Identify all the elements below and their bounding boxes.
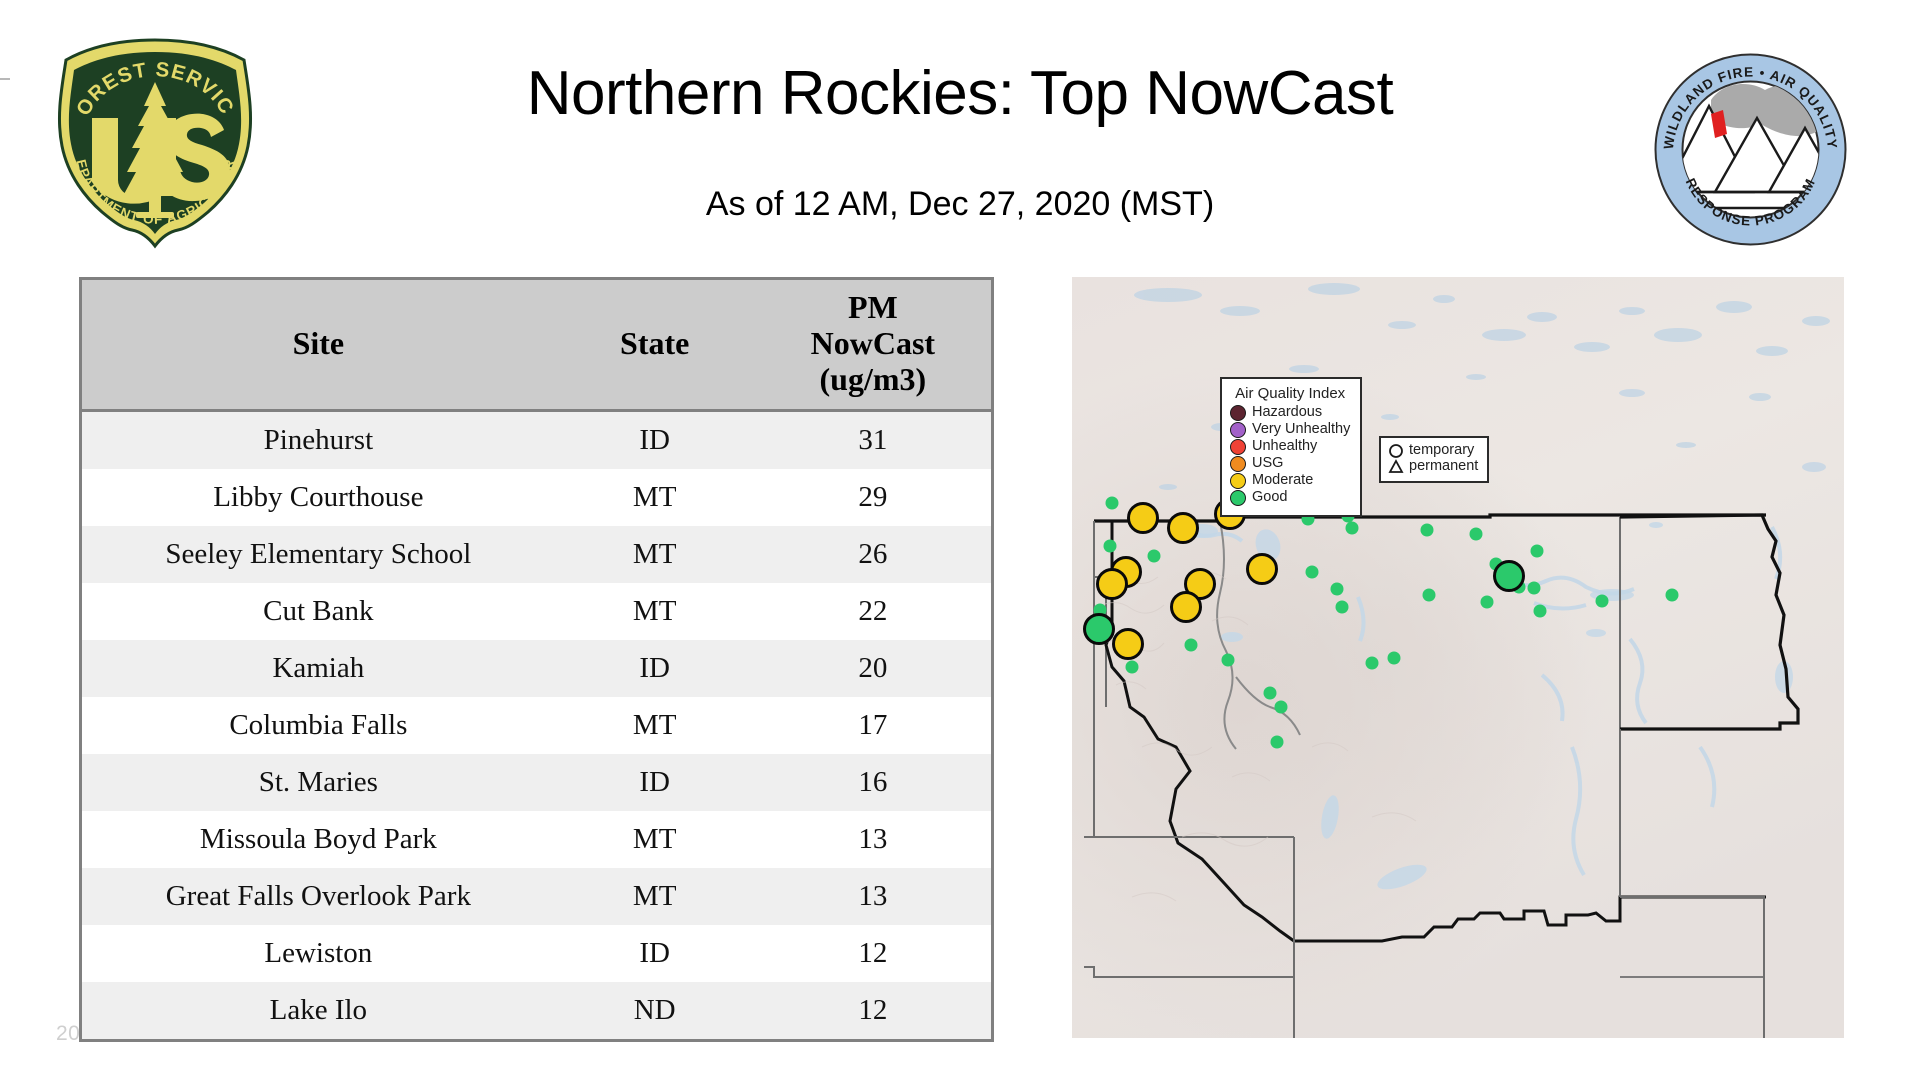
pm-cell: 13 — [755, 868, 991, 925]
temporary-monitor-circle-icon — [1388, 443, 1404, 459]
map-monitor-marker[interactable] — [1096, 568, 1128, 600]
aqi-legend-row: Good — [1230, 490, 1350, 506]
state-cell: MT — [555, 697, 755, 754]
table-body: PinehurstID31Libby CourthouseMT29Seeley … — [82, 411, 991, 1040]
column-header-state: State — [555, 280, 755, 411]
aqi-legend-row: Unhealthy — [1230, 439, 1350, 455]
pm-cell: 12 — [755, 925, 991, 982]
site-cell: Seeley Elementary School — [82, 526, 555, 583]
site-cell: Pinehurst — [82, 411, 555, 470]
site-cell: Libby Courthouse — [82, 469, 555, 526]
column-header-site: Site — [82, 280, 555, 411]
table-row: LewistonID12 — [82, 925, 991, 982]
monitor-permanent-row: permanent — [1388, 459, 1478, 475]
map-monitor-marker[interactable] — [1331, 583, 1344, 596]
aqi-swatch-icon — [1230, 405, 1246, 421]
map-monitor-marker[interactable] — [1531, 545, 1544, 558]
air-quality-map[interactable]: Air Quality Index HazardousVery Unhealth… — [1072, 277, 1844, 1038]
aqi-legend-label: Hazardous — [1252, 405, 1322, 420]
pm-cell: 17 — [755, 697, 991, 754]
pm-cell: 16 — [755, 754, 991, 811]
pm-cell: 13 — [755, 811, 991, 868]
map-monitor-marker[interactable] — [1534, 605, 1547, 618]
pm-cell: 29 — [755, 469, 991, 526]
state-cell: MT — [555, 526, 755, 583]
slide-root: 2020-12-27 0700 UTC FOREST SERVICE DEPAR… — [0, 0, 1920, 1080]
table-row: KamiahID20 — [82, 640, 991, 697]
site-cell: Lake Ilo — [82, 982, 555, 1039]
map-monitor-marker[interactable] — [1388, 652, 1401, 665]
table-row: Libby CourthouseMT29 — [82, 469, 991, 526]
aqi-legend-row: Moderate — [1230, 473, 1350, 489]
map-monitor-marker[interactable] — [1275, 701, 1288, 714]
aqi-swatch-icon — [1230, 473, 1246, 489]
map-monitor-marker[interactable] — [1493, 560, 1525, 592]
table-row: Columbia FallsMT17 — [82, 697, 991, 754]
map-monitor-marker[interactable] — [1167, 512, 1199, 544]
aqi-swatch-icon — [1230, 490, 1246, 506]
map-monitor-marker[interactable] — [1083, 613, 1115, 645]
table-row: Cut BankMT22 — [82, 583, 991, 640]
aqi-legend-row: Hazardous — [1230, 405, 1350, 421]
us-forest-service-logo: FOREST SERVICE DEPARTMENT OF AGRICULTURE — [48, 30, 263, 255]
map-monitor-marker[interactable] — [1112, 628, 1144, 660]
column-header-pm-nowcast: PM NowCast (ug/m3) — [755, 280, 991, 411]
map-monitor-marker[interactable] — [1271, 736, 1284, 749]
pm-cell: 20 — [755, 640, 991, 697]
aqi-legend-title: Air Quality Index — [1230, 385, 1350, 402]
aqi-legend-row: Very Unhealthy — [1230, 422, 1350, 438]
map-monitor-marker[interactable] — [1185, 639, 1198, 652]
pm-cell: 26 — [755, 526, 991, 583]
state-cell: MT — [555, 868, 755, 925]
nowcast-table: Site State PM NowCast (ug/m3) PinehurstI… — [82, 280, 991, 1039]
state-cell: ID — [555, 925, 755, 982]
pm-header-line-1: PM — [848, 289, 898, 325]
site-cell: Columbia Falls — [82, 697, 555, 754]
map-monitor-marker[interactable] — [1666, 589, 1679, 602]
map-monitor-marker[interactable] — [1222, 654, 1235, 667]
state-cell: MT — [555, 583, 755, 640]
pm-cell: 22 — [755, 583, 991, 640]
aqi-swatch-icon — [1230, 439, 1246, 455]
table-row: PinehurstID31 — [82, 411, 991, 470]
pm-header-line-3: (ug/m3) — [820, 361, 927, 397]
map-monitor-marker[interactable] — [1148, 550, 1161, 563]
aqi-swatch-icon — [1230, 422, 1246, 438]
map-terrain-canvas — [1072, 277, 1844, 1038]
aqi-legend-label: Good — [1252, 490, 1287, 505]
table-row: Seeley Elementary SchoolMT26 — [82, 526, 991, 583]
map-monitor-marker[interactable] — [1346, 522, 1359, 535]
aqi-swatch-icon — [1230, 456, 1246, 472]
permanent-monitor-triangle-icon — [1388, 459, 1404, 475]
page-subtitle: As of 12 AM, Dec 27, 2020 (MST) — [0, 185, 1920, 224]
map-monitor-marker[interactable] — [1170, 591, 1202, 623]
pm-cell: 31 — [755, 411, 991, 470]
aqi-legend-row: USG — [1230, 456, 1350, 472]
site-cell: Lewiston — [82, 925, 555, 982]
state-cell: ID — [555, 754, 755, 811]
site-cell: Missoula Boyd Park — [82, 811, 555, 868]
table-row: Great Falls Overlook ParkMT13 — [82, 868, 991, 925]
table-head: Site State PM NowCast (ug/m3) — [82, 280, 991, 411]
nowcast-table-container: Site State PM NowCast (ug/m3) PinehurstI… — [79, 277, 994, 1042]
wfaqrp-logo: WILDLAND FIRE • AIR QUALITY RESPONSE PRO… — [1653, 52, 1848, 247]
monitor-temporary-row: temporary — [1388, 443, 1478, 459]
pm-header-line-2: NowCast — [811, 325, 935, 361]
aqi-legend-label: Very Unhealthy — [1252, 422, 1350, 437]
map-monitor-marker[interactable] — [1336, 601, 1349, 614]
map-monitor-marker[interactable] — [1246, 553, 1278, 585]
monitor-temporary-label: temporary — [1409, 443, 1474, 458]
monitor-type-legend: temporary permanent — [1379, 436, 1489, 483]
map-monitor-marker[interactable] — [1104, 540, 1117, 553]
state-cell: MT — [555, 811, 755, 868]
table-row: St. MariesID16 — [82, 754, 991, 811]
map-monitor-marker[interactable] — [1421, 524, 1434, 537]
aqi-legend-label: USG — [1252, 456, 1283, 471]
site-cell: St. Maries — [82, 754, 555, 811]
map-monitor-marker[interactable] — [1127, 502, 1159, 534]
site-cell: Kamiah — [82, 640, 555, 697]
table-row: Missoula Boyd ParkMT13 — [82, 811, 991, 868]
pm-cell: 12 — [755, 982, 991, 1039]
aqi-legend-label: Unhealthy — [1252, 439, 1317, 454]
aqi-legend: Air Quality Index HazardousVery Unhealth… — [1220, 377, 1362, 517]
aqi-legend-label: Moderate — [1252, 473, 1313, 488]
monitor-permanent-label: permanent — [1409, 459, 1478, 474]
map-monitor-marker[interactable] — [1126, 661, 1139, 674]
state-cell: ID — [555, 411, 755, 470]
state-cell: ID — [555, 640, 755, 697]
state-cell: MT — [555, 469, 755, 526]
map-monitor-marker[interactable] — [1306, 566, 1319, 579]
map-monitor-marker[interactable] — [1106, 497, 1119, 510]
table-row: Lake IloND12 — [82, 982, 991, 1039]
site-cell: Great Falls Overlook Park — [82, 868, 555, 925]
site-cell: Cut Bank — [82, 583, 555, 640]
page-title: Northern Rockies: Top NowCast — [0, 58, 1920, 129]
state-cell: ND — [555, 982, 755, 1039]
map-monitor-marker[interactable] — [1264, 687, 1277, 700]
map-monitor-marker[interactable] — [1423, 589, 1436, 602]
map-monitor-marker[interactable] — [1470, 528, 1483, 541]
map-monitor-marker[interactable] — [1528, 582, 1541, 595]
map-monitor-marker[interactable] — [1481, 596, 1494, 609]
map-monitor-marker[interactable] — [1596, 595, 1609, 608]
map-monitor-marker[interactable] — [1366, 657, 1379, 670]
table-header-row: Site State PM NowCast (ug/m3) — [82, 280, 991, 411]
